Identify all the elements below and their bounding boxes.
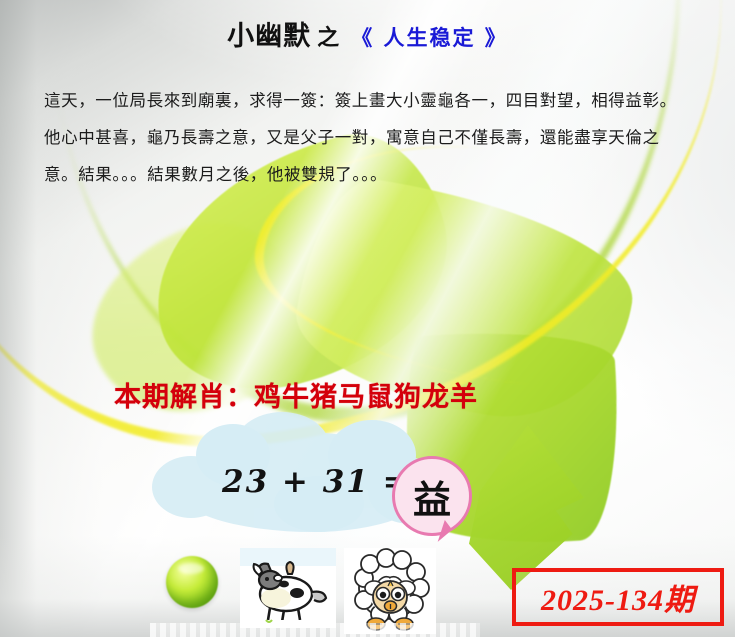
story-line: 他心中甚喜，龜乃長壽之意，又是父子一對，寓意自己不僅長壽，還能盡享天倫之: [44, 119, 696, 156]
cow-icon: [240, 548, 336, 628]
story-text: 這天，一位局長來到廟裏，求得一簽：簽上畫大小靈龜各一，四目對望，相得益彰。 他心…: [44, 82, 696, 193]
issue-badge: 2025-134期: [512, 568, 724, 626]
story-line: 意。結果。。。結果數月之後，他被雙規了。。。: [44, 156, 696, 193]
prediction-line: 本期解肖：鸡牛猪马鼠狗龙羊: [114, 375, 478, 414]
cow-illustration: [240, 548, 336, 628]
sheep-icon: [344, 548, 436, 634]
story-line: 這天，一位局長來到廟裏，求得一簽：簽上畫大小靈龜各一，四目對望，相得益彰。: [44, 82, 696, 119]
leaf-decoration-arrow: [455, 425, 595, 590]
green-orb-icon: [166, 556, 218, 608]
poster-header: 小幽默之《 人生稳定 》: [0, 14, 735, 53]
issue-label: 2025-134期: [541, 575, 695, 619]
answer-bubble: 益: [392, 456, 472, 536]
page-subtitle: 《 人生稳定 》: [351, 26, 508, 50]
sheep-illustration: [344, 548, 436, 634]
page-title: 小幽默: [227, 21, 311, 52]
poster-canvas: 小幽默之《 人生稳定 》 這天，一位局長來到廟裏，求得一簽：簽上畫大小靈龜各一，…: [0, 0, 735, 637]
page-title-connector: 之: [317, 25, 339, 51]
equation-expression: 23 + 31 =: [222, 464, 411, 500]
answer-character: 益: [395, 459, 469, 533]
